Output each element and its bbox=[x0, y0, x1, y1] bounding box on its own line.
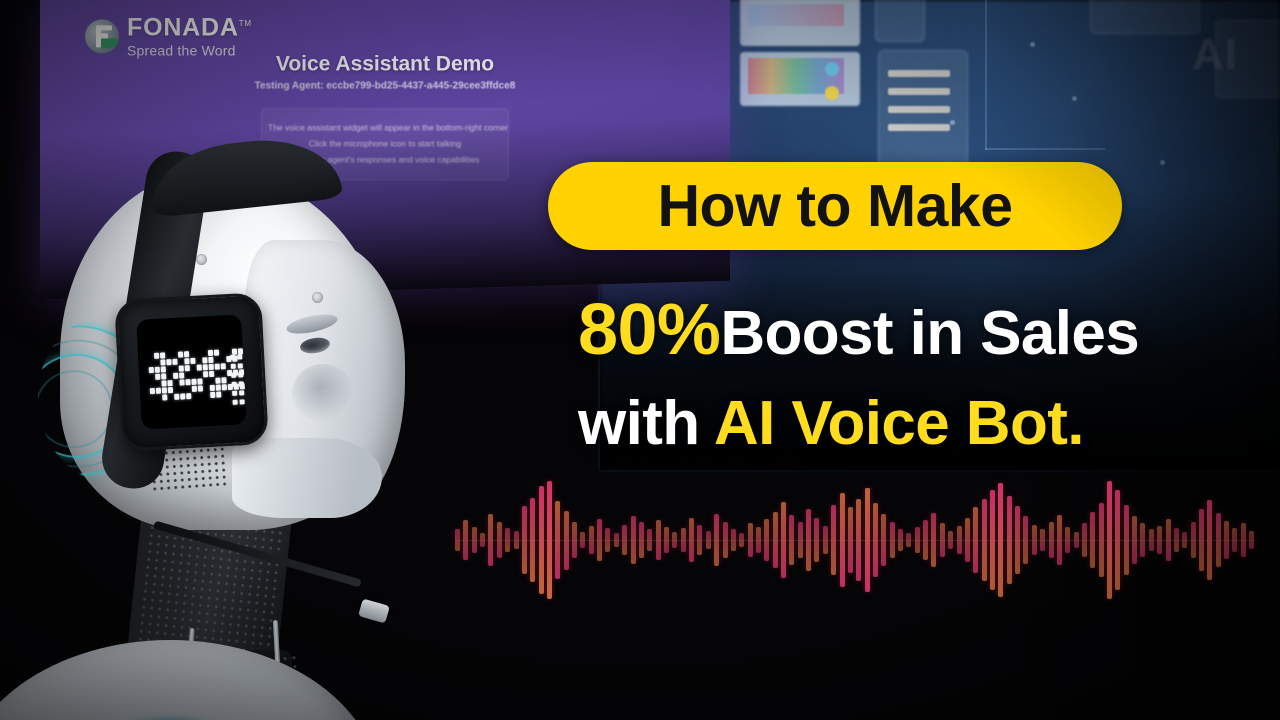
display-pixel bbox=[184, 351, 189, 357]
waveform-bar bbox=[998, 483, 1003, 596]
display-pixel bbox=[209, 364, 214, 370]
display-pixel bbox=[198, 385, 203, 391]
display-pixel bbox=[244, 348, 247, 354]
display-pixel bbox=[161, 380, 166, 386]
waveform-bar bbox=[789, 515, 794, 565]
waveform-bar bbox=[1191, 522, 1196, 557]
waveform-bar bbox=[1023, 516, 1028, 563]
waveform-bar bbox=[514, 531, 519, 550]
display-pixel bbox=[239, 381, 244, 386]
waveform-bar bbox=[1182, 532, 1187, 549]
waveform-bar bbox=[898, 529, 903, 550]
waveform-bar bbox=[589, 526, 594, 554]
waveform-bar bbox=[982, 499, 987, 582]
display-pixel bbox=[185, 365, 190, 371]
waveform-bar bbox=[572, 522, 577, 557]
display-pixel bbox=[230, 355, 235, 360]
waveform-bar bbox=[1015, 506, 1020, 574]
waveform-bar bbox=[723, 522, 728, 557]
display-pixel bbox=[210, 392, 215, 398]
waveform-bar bbox=[923, 520, 928, 560]
display-pixel bbox=[203, 371, 208, 377]
display-pixel bbox=[162, 387, 167, 393]
waveform-bar bbox=[614, 533, 619, 547]
waveform-bar bbox=[1007, 496, 1012, 583]
waveform-bar bbox=[814, 518, 819, 563]
ai-robot bbox=[0, 150, 470, 720]
headline-line1: How to Make bbox=[657, 177, 1012, 236]
waveform-bar bbox=[990, 490, 995, 589]
waveform-bar bbox=[622, 525, 627, 556]
waveform-bar bbox=[1032, 525, 1037, 556]
waveform-bar bbox=[505, 528, 510, 552]
display-pixel bbox=[246, 390, 247, 396]
display-pixel bbox=[208, 357, 213, 363]
waveform-bar bbox=[1049, 522, 1054, 557]
waveform-bar bbox=[1040, 529, 1045, 550]
waveform-bar bbox=[856, 499, 861, 582]
display-pixel bbox=[180, 393, 185, 399]
display-pixel bbox=[150, 388, 155, 394]
display-pixel bbox=[179, 365, 184, 371]
headline-line3: with AI Voice Bot. bbox=[578, 393, 1084, 455]
display-pixel bbox=[167, 380, 172, 386]
display-pixel bbox=[185, 379, 190, 385]
waveform-bar bbox=[547, 481, 552, 599]
waveform-bar bbox=[472, 527, 477, 553]
display-pixel bbox=[191, 379, 196, 385]
waveform-bar bbox=[1082, 523, 1087, 556]
waveform-bar bbox=[597, 519, 602, 561]
display-pixel bbox=[184, 358, 189, 364]
waveform-bar bbox=[731, 529, 736, 550]
display-pixel bbox=[179, 379, 184, 385]
display-pixel bbox=[214, 350, 219, 356]
robot-screw bbox=[196, 254, 207, 265]
waveform-bar bbox=[965, 518, 970, 563]
headline-line2-rest: Boost in Sales bbox=[720, 299, 1139, 368]
waveform-bar bbox=[848, 507, 853, 573]
waveform-bar bbox=[865, 488, 870, 592]
display-pixel bbox=[202, 357, 207, 363]
waveform-bar bbox=[756, 527, 761, 553]
robot-cheek bbox=[292, 364, 354, 422]
display-pixel bbox=[161, 366, 166, 372]
display-pixel bbox=[231, 373, 236, 378]
display-pixel bbox=[238, 372, 243, 377]
waveform-bar bbox=[555, 501, 560, 579]
display-pixel bbox=[233, 400, 238, 405]
display-pixel bbox=[216, 384, 221, 390]
display-pixel bbox=[190, 358, 195, 364]
waveform-bar bbox=[497, 522, 502, 557]
display-pixel bbox=[245, 369, 247, 375]
waveform-bar bbox=[1157, 526, 1162, 554]
display-pixel bbox=[231, 364, 236, 369]
display-pixel bbox=[245, 362, 247, 368]
waveform-bar bbox=[1216, 513, 1221, 567]
display-pixel bbox=[192, 386, 197, 392]
display-pixel bbox=[178, 351, 183, 357]
display-pixel bbox=[154, 353, 159, 359]
display-pixel bbox=[238, 363, 243, 368]
display-pixel bbox=[160, 352, 165, 358]
waveform-bar bbox=[1166, 519, 1171, 561]
waveform-bar bbox=[840, 493, 845, 587]
headline-line2: 80%Boost in Sales bbox=[578, 294, 1139, 366]
waveform-bar bbox=[881, 514, 886, 566]
waveform-bar bbox=[564, 511, 569, 570]
waveform-bar bbox=[530, 498, 535, 583]
display-pixel bbox=[173, 373, 178, 379]
headset-microphone-icon bbox=[358, 598, 390, 623]
waveform-bar bbox=[957, 526, 962, 554]
display-pixel bbox=[240, 399, 245, 404]
display-pixel bbox=[162, 394, 167, 400]
waveform-bar bbox=[1057, 515, 1062, 565]
waveform-bar bbox=[940, 523, 945, 556]
pixel-glyph-display bbox=[136, 314, 247, 429]
display-pixel bbox=[239, 390, 244, 395]
display-pixel bbox=[179, 372, 184, 378]
waveform-bar bbox=[915, 527, 920, 553]
robot-shoulder bbox=[0, 640, 380, 720]
waveform-bar bbox=[664, 527, 669, 553]
display-pixel bbox=[246, 383, 247, 389]
display-pixel bbox=[221, 377, 226, 383]
waveform-bar bbox=[580, 532, 585, 549]
display-pixel bbox=[197, 378, 202, 384]
waveform-bar bbox=[1065, 527, 1070, 553]
waveform-bar bbox=[1099, 503, 1104, 576]
waveform-bar bbox=[973, 507, 978, 573]
promo-banner: AI FONADATM Spread the Word Voice Assist… bbox=[0, 0, 1280, 720]
waveform-bar bbox=[748, 523, 753, 556]
waveform-bar bbox=[1074, 532, 1079, 549]
display-pixel bbox=[237, 354, 242, 359]
display-pixel bbox=[160, 359, 165, 365]
waveform-bar bbox=[522, 506, 527, 574]
display-pixel bbox=[215, 364, 220, 370]
waveform-bar bbox=[1115, 490, 1120, 589]
display-pixel bbox=[209, 371, 214, 377]
waveform-bar bbox=[890, 522, 895, 557]
display-pixel bbox=[210, 385, 215, 391]
headline-line3-prefix: with bbox=[578, 389, 700, 458]
waveform-bar bbox=[714, 514, 719, 566]
display-pixel bbox=[208, 350, 213, 356]
headline-percent: 80% bbox=[578, 290, 720, 370]
waveform-bar bbox=[639, 522, 644, 557]
display-pixel bbox=[203, 364, 208, 370]
waveform-bar bbox=[781, 502, 786, 578]
waveform-bar bbox=[488, 514, 493, 566]
waveform-bar bbox=[706, 531, 711, 550]
waveform-bar bbox=[697, 525, 702, 556]
headline-pill: How to Make bbox=[548, 162, 1122, 250]
display-pixel bbox=[232, 382, 237, 387]
waveform-bar bbox=[480, 533, 485, 547]
display-pixel bbox=[156, 388, 161, 394]
display-pixel bbox=[215, 377, 220, 383]
display-pixel bbox=[172, 359, 177, 365]
waveform-bar bbox=[823, 526, 828, 554]
waveform-bar bbox=[656, 520, 661, 560]
display-pixel bbox=[197, 364, 202, 370]
audio-waveform bbox=[455, 478, 1255, 602]
robot-screw bbox=[312, 292, 323, 303]
display-pixel bbox=[222, 384, 227, 390]
display-pixel bbox=[186, 393, 191, 399]
headline-line3-highlight: AI Voice Bot. bbox=[714, 389, 1084, 458]
waveform-bar bbox=[1199, 509, 1204, 570]
waveform-bar bbox=[931, 513, 936, 567]
waveform-bar bbox=[739, 533, 744, 547]
waveform-bar bbox=[1149, 529, 1154, 550]
waveform-bar bbox=[1140, 523, 1145, 556]
waveform-bar bbox=[647, 529, 652, 550]
waveform-bar bbox=[1207, 500, 1212, 580]
waveform-bar bbox=[605, 528, 610, 552]
waveform-bar bbox=[1124, 505, 1129, 576]
display-pixel bbox=[168, 387, 173, 393]
waveform-bar bbox=[539, 486, 544, 595]
waveform-bar bbox=[831, 505, 836, 576]
display-pixel bbox=[161, 373, 166, 379]
waveform-bar bbox=[873, 503, 878, 576]
display-pixel bbox=[232, 391, 237, 396]
waveform-bar bbox=[773, 512, 778, 569]
robot-jaw bbox=[232, 438, 382, 518]
waveform-bar bbox=[1224, 521, 1229, 559]
waveform-bar bbox=[1241, 523, 1246, 556]
display-pixel bbox=[216, 391, 221, 397]
waveform-bar bbox=[1249, 531, 1254, 550]
waveform-bar bbox=[764, 519, 769, 561]
display-pixel bbox=[221, 363, 226, 369]
display-pixel bbox=[155, 374, 160, 380]
waveform-bar bbox=[689, 518, 694, 563]
waveform-bar bbox=[798, 522, 803, 557]
waveform-bar bbox=[672, 532, 677, 549]
waveform-bar bbox=[806, 509, 811, 570]
waveform-bar bbox=[948, 531, 953, 550]
waveform-bar bbox=[1174, 528, 1179, 552]
waveform-bar bbox=[681, 528, 686, 552]
display-pixel bbox=[149, 367, 154, 373]
display-pixel bbox=[174, 394, 179, 400]
waveform-bar bbox=[1132, 516, 1137, 563]
waveform-bar bbox=[631, 516, 636, 563]
robot-head-display bbox=[114, 292, 269, 451]
display-pixel bbox=[155, 367, 160, 373]
display-pixel bbox=[166, 359, 171, 365]
waveform-bar bbox=[1107, 481, 1112, 599]
waveform-bar bbox=[1232, 528, 1237, 552]
waveform-bar bbox=[906, 533, 911, 547]
waveform-bar bbox=[1090, 512, 1095, 569]
